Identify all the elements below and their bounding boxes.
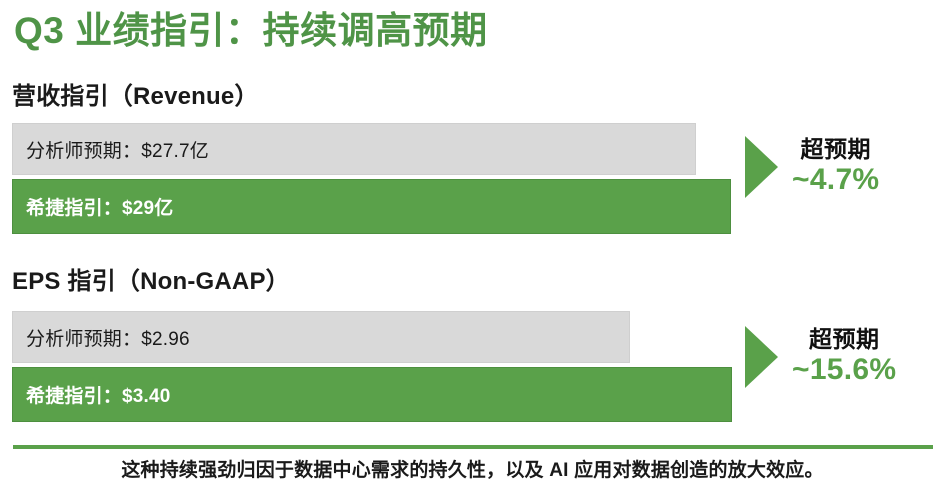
callout-revenue: 超预期 ~4.7% (745, 136, 879, 198)
callout-eps: 超预期 ~15.6% (745, 326, 896, 388)
page-title: Q3 业绩指引：持续调高预期 (14, 8, 488, 54)
callout-title-revenue: 超预期 (792, 137, 879, 163)
callout-value-revenue: ~4.7% (792, 163, 879, 197)
callout-text-revenue: 超预期 ~4.7% (792, 137, 879, 196)
footer-note: 这种持续强劲归因于数据中心需求的持久性，以及 AI 应用对数据创造的放大效应。 (0, 455, 945, 482)
slide-canvas: Q3 业绩指引：持续调高预期 营收指引（Revenue） 分析师预期：$27.7… (0, 0, 945, 500)
callout-value-eps: ~15.6% (792, 353, 896, 387)
footer-divider (13, 445, 933, 449)
bar-label-guidance-eps: 希捷指引：$3.40 (26, 381, 171, 408)
callout-title-eps: 超预期 (792, 327, 896, 353)
bar-analyst-revenue: 分析师预期：$27.7亿 (12, 123, 696, 175)
bar-label-analyst-eps: 分析师预期：$2.96 (26, 324, 190, 351)
bar-guidance-eps: 希捷指引：$3.40 (12, 367, 732, 422)
bar-guidance-revenue: 希捷指引：$29亿 (12, 179, 731, 234)
triangle-right-icon (745, 136, 778, 198)
bar-analyst-eps: 分析师预期：$2.96 (12, 311, 630, 363)
section-header-revenue: 营收指引（Revenue） (12, 76, 259, 111)
bar-label-analyst-revenue: 分析师预期：$27.7亿 (26, 136, 209, 163)
triangle-right-icon (745, 326, 778, 388)
callout-text-eps: 超预期 ~15.6% (792, 327, 896, 386)
bar-label-guidance-revenue: 希捷指引：$29亿 (26, 193, 174, 220)
section-header-eps: EPS 指引（Non-GAAP） (12, 261, 290, 296)
